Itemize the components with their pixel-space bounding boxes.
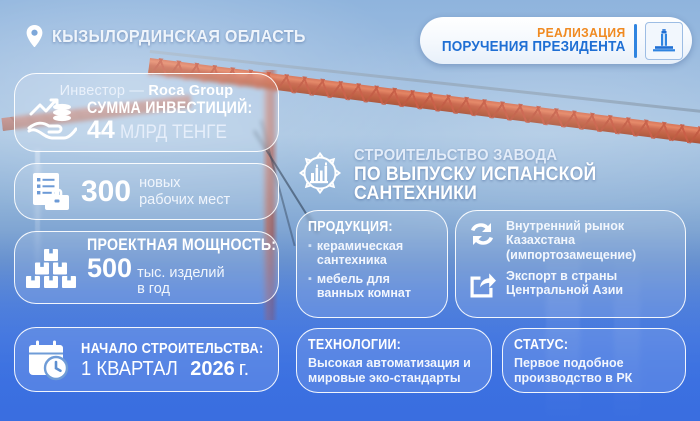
market-item-domestic: Внутренний рынок Казахстана (импортозаме… <box>467 219 674 262</box>
capacity-value-row: 500 тыс. изделий в год <box>87 255 307 298</box>
location-pin-icon <box>26 25 43 47</box>
badge-line-2: ПОРУЧЕНИЯ ПРЕЗИДЕНТА <box>442 40 626 55</box>
jobs-row: 300 новых рабочих мест <box>15 164 278 219</box>
start-text: НАЧАЛО СТРОИТЕЛЬСТВА: 1 КВАРТАЛ 2026 г. <box>81 341 293 379</box>
start-date-card: НАЧАЛО СТРОИТЕЛЬСТВА: 1 КВАРТАЛ 2026 г. <box>14 327 279 392</box>
product-item-text: керамическая сантехника <box>317 239 436 268</box>
jobs-card: 300 новых рабочих мест <box>14 163 279 220</box>
capacity-row: ПРОЕКТНАЯ МОЩНОСТЬ: 500 тыс. изделий в г… <box>15 232 278 303</box>
region-label: КЫЗЫЛОРДИНСКАЯ ОБЛАСТЬ <box>26 25 328 47</box>
president-order-badge: РЕАЛИЗАЦИЯ ПОРУЧЕНИЯ ПРЕЗИДЕНТА <box>420 17 692 64</box>
investment-card: Инвестор — Roca Group СУММА ИНВЕСТИЦИЙ: … <box>14 73 279 152</box>
list-item: ▪мебель для ванных комнат <box>308 272 436 301</box>
technology-card: ТЕХНОЛОГИИ: Высокая автоматизация и миро… <box>296 328 492 393</box>
investment-text: СУММА ИНВЕСТИЦИЙ: 44 МЛРД ТЕНГЕ <box>87 98 279 143</box>
jobs-label-line-1: новых <box>139 175 180 191</box>
start-heading: НАЧАЛО СТРОИТЕЛЬСТВА: <box>81 341 264 356</box>
status-text: Первое подобное производство в РК <box>514 356 674 386</box>
start-year: 2026 <box>190 359 235 379</box>
start-date-row: 1 КВАРТАЛ 2026 г. <box>81 359 293 379</box>
status-heading: СТАТУС: <box>514 337 652 353</box>
market-text: Внутренний рынок Казахстана (импортозаме… <box>506 219 674 262</box>
start-quarter: 1 КВАРТАЛ <box>81 359 178 379</box>
capacity-heading: ПРОЕКТНАЯ МОЩНОСТЬ: <box>87 237 276 254</box>
capacity-label: тыс. изделий в год <box>137 266 225 298</box>
investment-unit: МЛРД ТЕНГЕ <box>120 123 227 142</box>
badge-divider <box>634 24 637 58</box>
investment-amount: 44 <box>87 118 115 143</box>
main-title: СТРОИТЕЛЬСТВО ЗАВОДА ПО ВЫПУСКУ ИСПАНСКО… <box>296 148 700 203</box>
region-name: КЫЗЫЛОРДИНСКАЯ ОБЛАСТЬ <box>52 26 306 47</box>
main-title-line-1: СТРОИТЕЛЬСТВО ЗАВОДА <box>354 148 672 164</box>
capacity-text: ПРОЕКТНАЯ МОЩНОСТЬ: 500 тыс. изделий в г… <box>87 237 307 298</box>
hand-coins-growth-icon <box>27 98 77 142</box>
technology-text: Высокая автоматизация и мировые эко-стан… <box>308 356 480 386</box>
bullet-icon: ▪ <box>308 239 312 268</box>
jobs-text: 300 новых рабочих мест <box>81 175 230 207</box>
capacity-label-line-2: в год <box>137 281 170 297</box>
list-item: ▪керамическая сантехника <box>308 239 436 268</box>
investor-name: Roca Group <box>148 83 233 99</box>
capacity-label-line-1: тыс. изделий <box>137 265 225 281</box>
market-text: Экспорт в страны Центральной Азии <box>506 269 674 298</box>
products-list: ▪керамическая сантехника ▪мебель для ван… <box>308 239 436 301</box>
technology-content: ТЕХНОЛОГИИ: Высокая автоматизация и миро… <box>297 329 491 394</box>
products-heading: ПРОДУКЦИЯ: <box>308 219 418 235</box>
document-briefcase-icon <box>25 171 71 213</box>
calendar-clock-icon <box>25 339 71 381</box>
badge-text: РЕАЛИЗАЦИЯ ПОРУЧЕНИЯ ПРЕЗИДЕНТА <box>428 26 626 54</box>
bullet-icon: ▪ <box>308 272 312 301</box>
product-item-text: мебель для ванных комнат <box>317 272 436 301</box>
markets-content: Внутренний рынок Казахстана (импортозаме… <box>456 211 685 314</box>
investment-heading: СУММА ИНВЕСТИЦИЙ: <box>87 100 253 117</box>
start-suffix: г. <box>239 359 249 379</box>
factory-gear-icon <box>296 149 344 202</box>
main-title-line-2: ПО ВЫПУСКУ ИСПАНСКОЙ САНТЕХНИКИ <box>354 165 676 203</box>
jobs-number: 300 <box>81 177 131 207</box>
technology-heading: ТЕХНОЛОГИИ: <box>308 337 456 353</box>
start-row: НАЧАЛО СТРОИТЕЛЬСТВА: 1 КВАРТАЛ 2026 г. <box>15 328 278 391</box>
badge-line-1: РЕАЛИЗАЦИЯ <box>442 26 626 39</box>
stacked-boxes-icon <box>25 245 77 291</box>
jobs-label: новых рабочих мест <box>139 175 230 207</box>
export-share-icon <box>467 269 497 299</box>
market-item-export: Экспорт в страны Центральной Азии <box>467 269 674 299</box>
government-building-icon <box>645 22 683 60</box>
investment-amount-row: 44 МЛРД ТЕНГЕ <box>87 118 279 143</box>
investor-prefix: Инвестор — <box>60 83 144 99</box>
exchange-arrows-icon <box>467 219 497 249</box>
capacity-number: 500 <box>87 255 132 282</box>
products-content: ПРОДУКЦИЯ: ▪керамическая сантехника ▪меб… <box>297 211 447 313</box>
status-content: СТАТУС: Первое подобное производство в Р… <box>503 329 685 394</box>
investor-line: Инвестор — Roca Group <box>15 83 278 99</box>
markets-card: Внутренний рынок Казахстана (импортозаме… <box>455 210 686 318</box>
status-card: СТАТУС: Первое подобное производство в Р… <box>502 328 686 393</box>
jobs-label-line-2: рабочих мест <box>139 192 230 208</box>
products-card: ПРОДУКЦИЯ: ▪керамическая сантехника ▪меб… <box>296 210 448 318</box>
capacity-card: ПРОЕКТНАЯ МОЩНОСТЬ: 500 тыс. изделий в г… <box>14 231 279 304</box>
main-title-text: СТРОИТЕЛЬСТВО ЗАВОДА ПО ВЫПУСКУ ИСПАНСКО… <box>354 148 700 203</box>
